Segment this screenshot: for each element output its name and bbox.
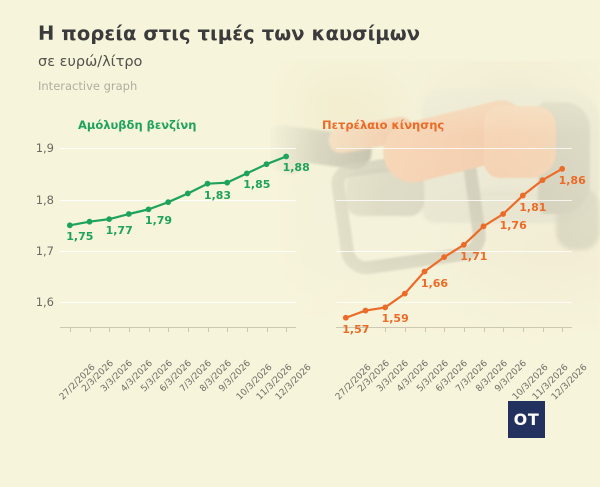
data-point-label: 1,59 — [382, 312, 409, 325]
data-point-label: 1,83 — [204, 189, 231, 202]
data-point-label: 1,71 — [460, 250, 487, 263]
data-point[interactable] — [461, 242, 467, 248]
data-point[interactable] — [540, 177, 546, 183]
data-point[interactable] — [520, 193, 526, 199]
data-point[interactable] — [402, 291, 408, 297]
data-point[interactable] — [283, 154, 289, 160]
data-point[interactable] — [67, 222, 73, 228]
data-point-label: 1,77 — [106, 224, 133, 237]
data-point[interactable] — [224, 180, 230, 186]
data-point-label: 1,75 — [66, 230, 93, 243]
data-point[interactable] — [481, 223, 487, 229]
data-point[interactable] — [422, 269, 428, 275]
plot-area-diesel[interactable]: 1,571,591,661,711,761,811,86 — [300, 138, 576, 328]
x-axis-labels-diesel: 27/2/20262/3/20263/3/20264/3/20265/3/202… — [300, 330, 576, 388]
chart-unleaded[interactable]: Αμόλυβδη βενζίνη 1,91,81,71,61,751,771,7… — [24, 112, 300, 382]
data-point[interactable] — [185, 191, 191, 197]
data-point-label: 1,76 — [500, 219, 527, 232]
header: Η πορεία στις τιμές των καυσίμων σε ευρώ… — [38, 22, 420, 93]
series-line-diesel — [300, 138, 576, 328]
data-point[interactable] — [244, 171, 250, 177]
data-point[interactable] — [205, 181, 211, 187]
x-axis-labels-unleaded: 27/2/20262/3/20263/3/20264/3/20265/3/202… — [24, 330, 300, 388]
page-subtitle: σε ευρώ/λίτρο — [38, 54, 420, 70]
ot-logo[interactable]: OT — [508, 401, 545, 438]
data-point[interactable] — [500, 211, 506, 217]
chart-diesel[interactable]: Πετρέλαιο κίνησης 1,571,591,661,711,761,… — [300, 112, 576, 382]
data-point-label: 1,66 — [421, 277, 448, 290]
data-point[interactable] — [363, 308, 369, 314]
data-point[interactable] — [559, 166, 565, 172]
series-title-unleaded: Αμόλυβδη βενζίνη — [78, 118, 196, 132]
data-point[interactable] — [146, 206, 152, 212]
series-title-diesel: Πετρέλαιο κίνησης — [322, 118, 444, 132]
ot-logo-text: OT — [514, 410, 540, 429]
data-point[interactable] — [382, 305, 388, 311]
data-point-label: 1,85 — [243, 178, 270, 191]
data-point[interactable] — [106, 216, 112, 222]
data-point[interactable] — [126, 211, 132, 217]
data-point[interactable] — [343, 315, 349, 321]
data-point-label: 1,86 — [559, 174, 586, 187]
page-title: Η πορεία στις τιμές των καυσίμων — [38, 22, 420, 45]
interactive-graph-note: Interactive graph — [38, 79, 420, 93]
data-point[interactable] — [441, 254, 447, 260]
infographic-canvas: Η πορεία στις τιμές των καυσίμων σε ευρώ… — [0, 0, 600, 487]
data-point[interactable] — [165, 199, 171, 205]
data-point-label: 1,81 — [519, 201, 546, 214]
plot-area-unleaded[interactable]: 1,91,81,71,61,751,771,791,831,851,88 — [24, 138, 300, 328]
data-point[interactable] — [87, 219, 93, 225]
data-point-label: 1,79 — [145, 214, 172, 227]
data-point[interactable] — [264, 161, 270, 167]
